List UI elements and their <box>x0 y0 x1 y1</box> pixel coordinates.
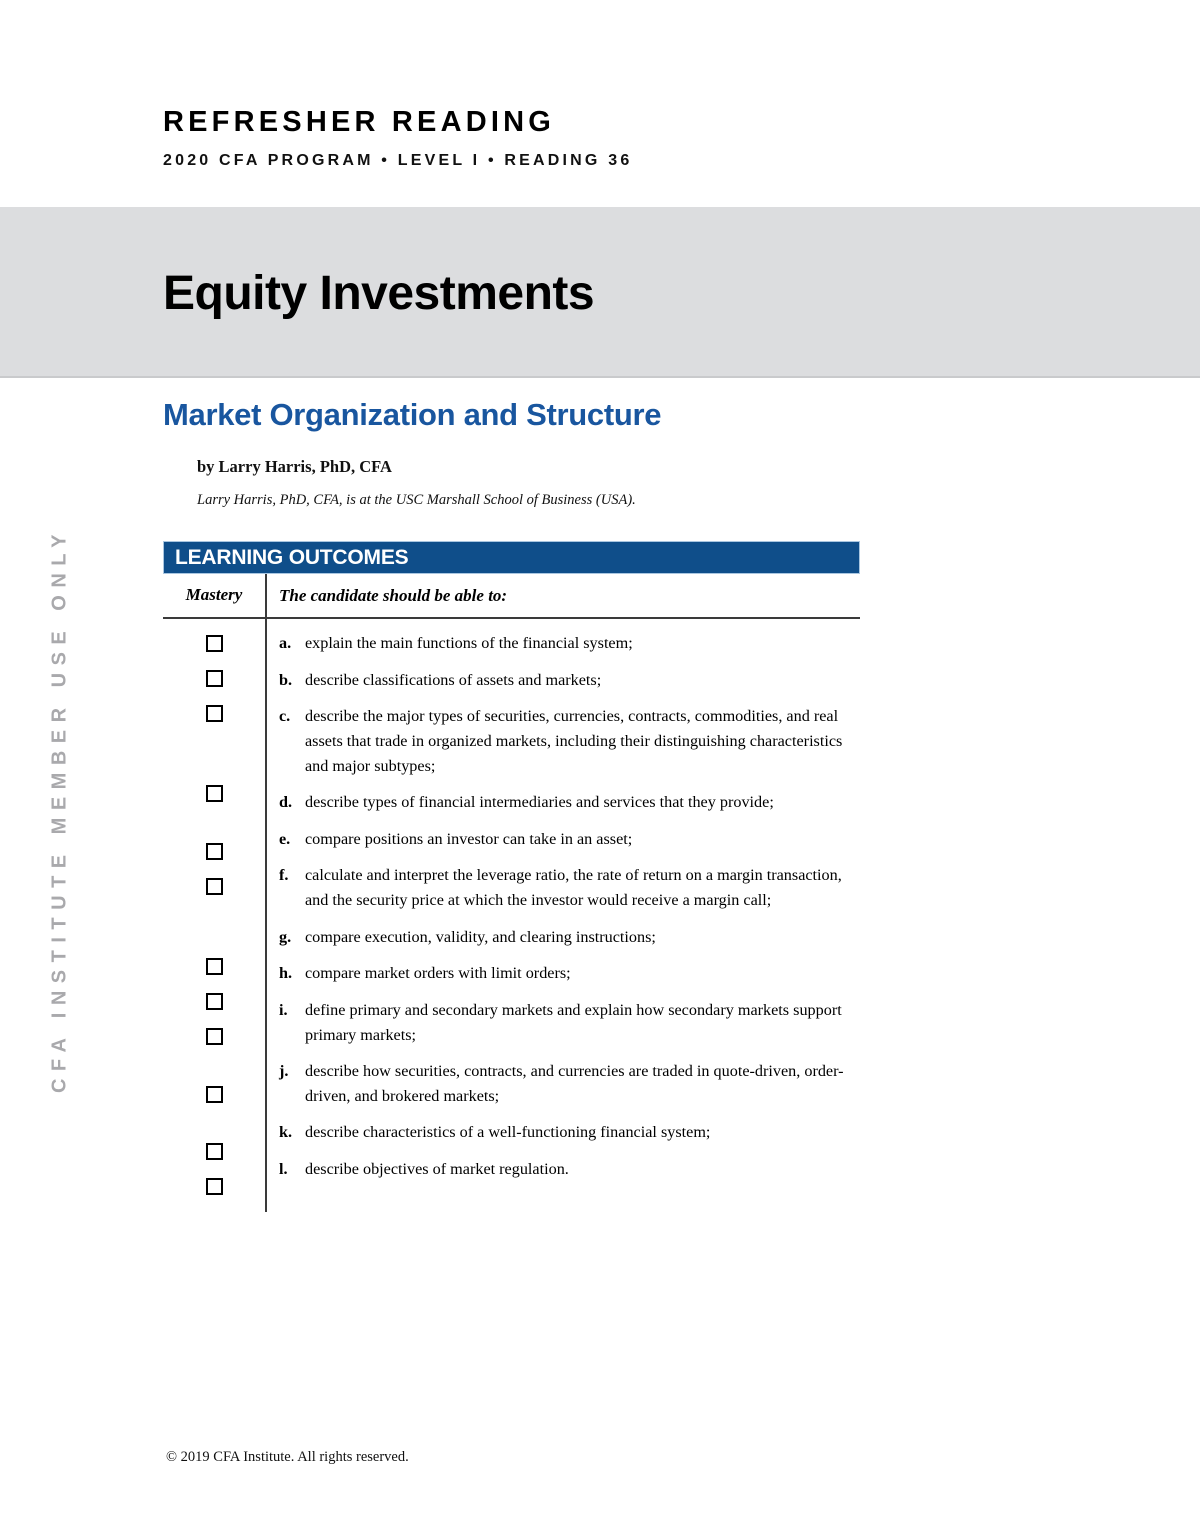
checkbox-icon[interactable] <box>206 1143 223 1160</box>
checkbox-icon[interactable] <box>206 958 223 975</box>
learning-outcome-item: i. define primary and secondary markets … <box>279 998 860 1047</box>
sidebar-watermark-text: CFA INSTITUTE MEMBER USE ONLY <box>49 527 72 1093</box>
mastery-checkbox-slot[interactable] <box>163 989 265 1024</box>
learning-outcome-text: compare positions an investor can take i… <box>305 827 860 852</box>
learning-outcome-text: describe characteristics of a well-funct… <box>305 1120 860 1145</box>
learning-outcomes-bar: LEARNING OUTCOMES <box>163 541 860 574</box>
checkbox-icon[interactable] <box>206 993 223 1010</box>
learning-outcome-letter: g. <box>279 925 305 950</box>
checkbox-icon[interactable] <box>206 670 223 687</box>
learning-outcomes-rows: a. explain the main functions of the fin… <box>163 619 860 1212</box>
checkbox-icon[interactable] <box>206 705 223 722</box>
learning-outcomes-list: a. explain the main functions of the fin… <box>265 619 860 1212</box>
learning-outcome-letter: i. <box>279 998 305 1047</box>
column-header-description-cell: The candidate should be able to: <box>265 574 860 617</box>
mastery-checkbox-slot[interactable] <box>163 1139 265 1174</box>
learning-outcomes-bar-label: LEARNING OUTCOMES <box>175 547 408 568</box>
learning-outcome-item: d. describe types of financial intermedi… <box>279 790 860 815</box>
mastery-checkbox-slot[interactable] <box>163 781 265 839</box>
learning-outcome-letter: h. <box>279 961 305 986</box>
learning-outcome-text: compare execution, validity, and clearin… <box>305 925 860 950</box>
learning-outcome-letter: f. <box>279 863 305 912</box>
mastery-checkbox-slot[interactable] <box>163 701 265 781</box>
learning-outcome-text: explain the main functions of the financ… <box>305 631 860 656</box>
learning-outcome-text: compare market orders with limit orders; <box>305 961 860 986</box>
checkbox-icon[interactable] <box>206 785 223 802</box>
mastery-checkbox-slot[interactable] <box>163 631 265 666</box>
learning-outcome-text: describe how securities, contracts, and … <box>305 1059 860 1108</box>
reading-title: Market Organization and Structure <box>163 399 661 430</box>
learning-outcome-text: describe the major types of securities, … <box>305 704 860 778</box>
mastery-checkbox-slot[interactable] <box>163 1082 265 1140</box>
checkbox-icon[interactable] <box>206 1086 223 1103</box>
learning-outcome-item: c. describe the major types of securitie… <box>279 704 860 778</box>
learning-outcome-item: k. describe characteristics of a well-fu… <box>279 1120 860 1145</box>
mastery-checkbox-slot[interactable] <box>163 1024 265 1082</box>
learning-outcome-letter: l. <box>279 1157 305 1182</box>
learning-outcome-item: g. compare execution, validity, and clea… <box>279 925 860 950</box>
mastery-checkbox-slot[interactable] <box>163 1174 265 1209</box>
learning-outcomes-header-row: Mastery The candidate should be able to: <box>163 574 860 617</box>
mastery-checkbox-slot[interactable] <box>163 666 265 701</box>
learning-outcome-letter: d. <box>279 790 305 815</box>
learning-outcome-item: l. describe objectives of market regulat… <box>279 1157 860 1182</box>
learning-outcome-item: e. compare positions an investor can tak… <box>279 827 860 852</box>
learning-outcome-text: describe types of financial intermediari… <box>305 790 860 815</box>
learning-outcome-item: h. compare market orders with limit orde… <box>279 961 860 986</box>
learning-outcome-item: f. calculate and interpret the leverage … <box>279 863 860 912</box>
column-header-mastery: Mastery <box>186 585 243 604</box>
checkbox-icon[interactable] <box>206 1028 223 1045</box>
footer-copyright: © 2019 CFA Institute. All rights reserve… <box>166 1450 409 1465</box>
checkbox-icon[interactable] <box>206 635 223 652</box>
learning-outcome-item: a. explain the main functions of the fin… <box>279 631 860 656</box>
learning-outcome-text: describe classifications of assets and m… <box>305 668 860 693</box>
learning-outcome-letter: e. <box>279 827 305 852</box>
checkbox-icon[interactable] <box>206 878 223 895</box>
mastery-checkbox-slot[interactable] <box>163 874 265 954</box>
refresher-reading-subkicker: 2020 CFA PROGRAM • LEVEL I • READING 36 <box>163 153 963 169</box>
mastery-checkbox-slot[interactable] <box>163 839 265 874</box>
learning-outcome-letter: a. <box>279 631 305 656</box>
learning-outcome-letter: b. <box>279 668 305 693</box>
refresher-reading-header: REFRESHER READING 2020 CFA PROGRAM • LEV… <box>163 108 963 169</box>
learning-outcome-text: calculate and interpret the leverage rat… <box>305 863 860 912</box>
reading-byline: by Larry Harris, PhD, CFA <box>197 459 392 476</box>
learning-outcome-letter: c. <box>279 704 305 778</box>
learning-outcome-letter: j. <box>279 1059 305 1108</box>
learning-outcome-item: b. describe classifications of assets an… <box>279 668 860 693</box>
checkbox-icon[interactable] <box>206 1178 223 1195</box>
refresher-reading-kicker: REFRESHER READING <box>163 108 963 137</box>
learning-outcome-text: describe objectives of market regulation… <box>305 1157 860 1182</box>
learning-outcome-letter: k. <box>279 1120 305 1145</box>
column-header-mastery-cell: Mastery <box>163 586 265 605</box>
reading-affiliation: Larry Harris, PhD, CFA, is at the USC Ma… <box>197 493 636 508</box>
learning-outcome-item: j. describe how securities, contracts, a… <box>279 1059 860 1108</box>
column-header-description: The candidate should be able to: <box>279 587 507 604</box>
checkbox-icon[interactable] <box>206 843 223 860</box>
learning-outcomes-block: LEARNING OUTCOMES Mastery The candidate … <box>163 541 860 1212</box>
learning-outcome-text: define primary and secondary markets and… <box>305 998 860 1047</box>
topic-title: Equity Investments <box>163 270 594 318</box>
sidebar-watermark: CFA INSTITUTE MEMBER USE ONLY <box>0 460 120 1160</box>
mastery-checkbox-slot[interactable] <box>163 954 265 989</box>
mastery-checkbox-column <box>163 619 265 1212</box>
